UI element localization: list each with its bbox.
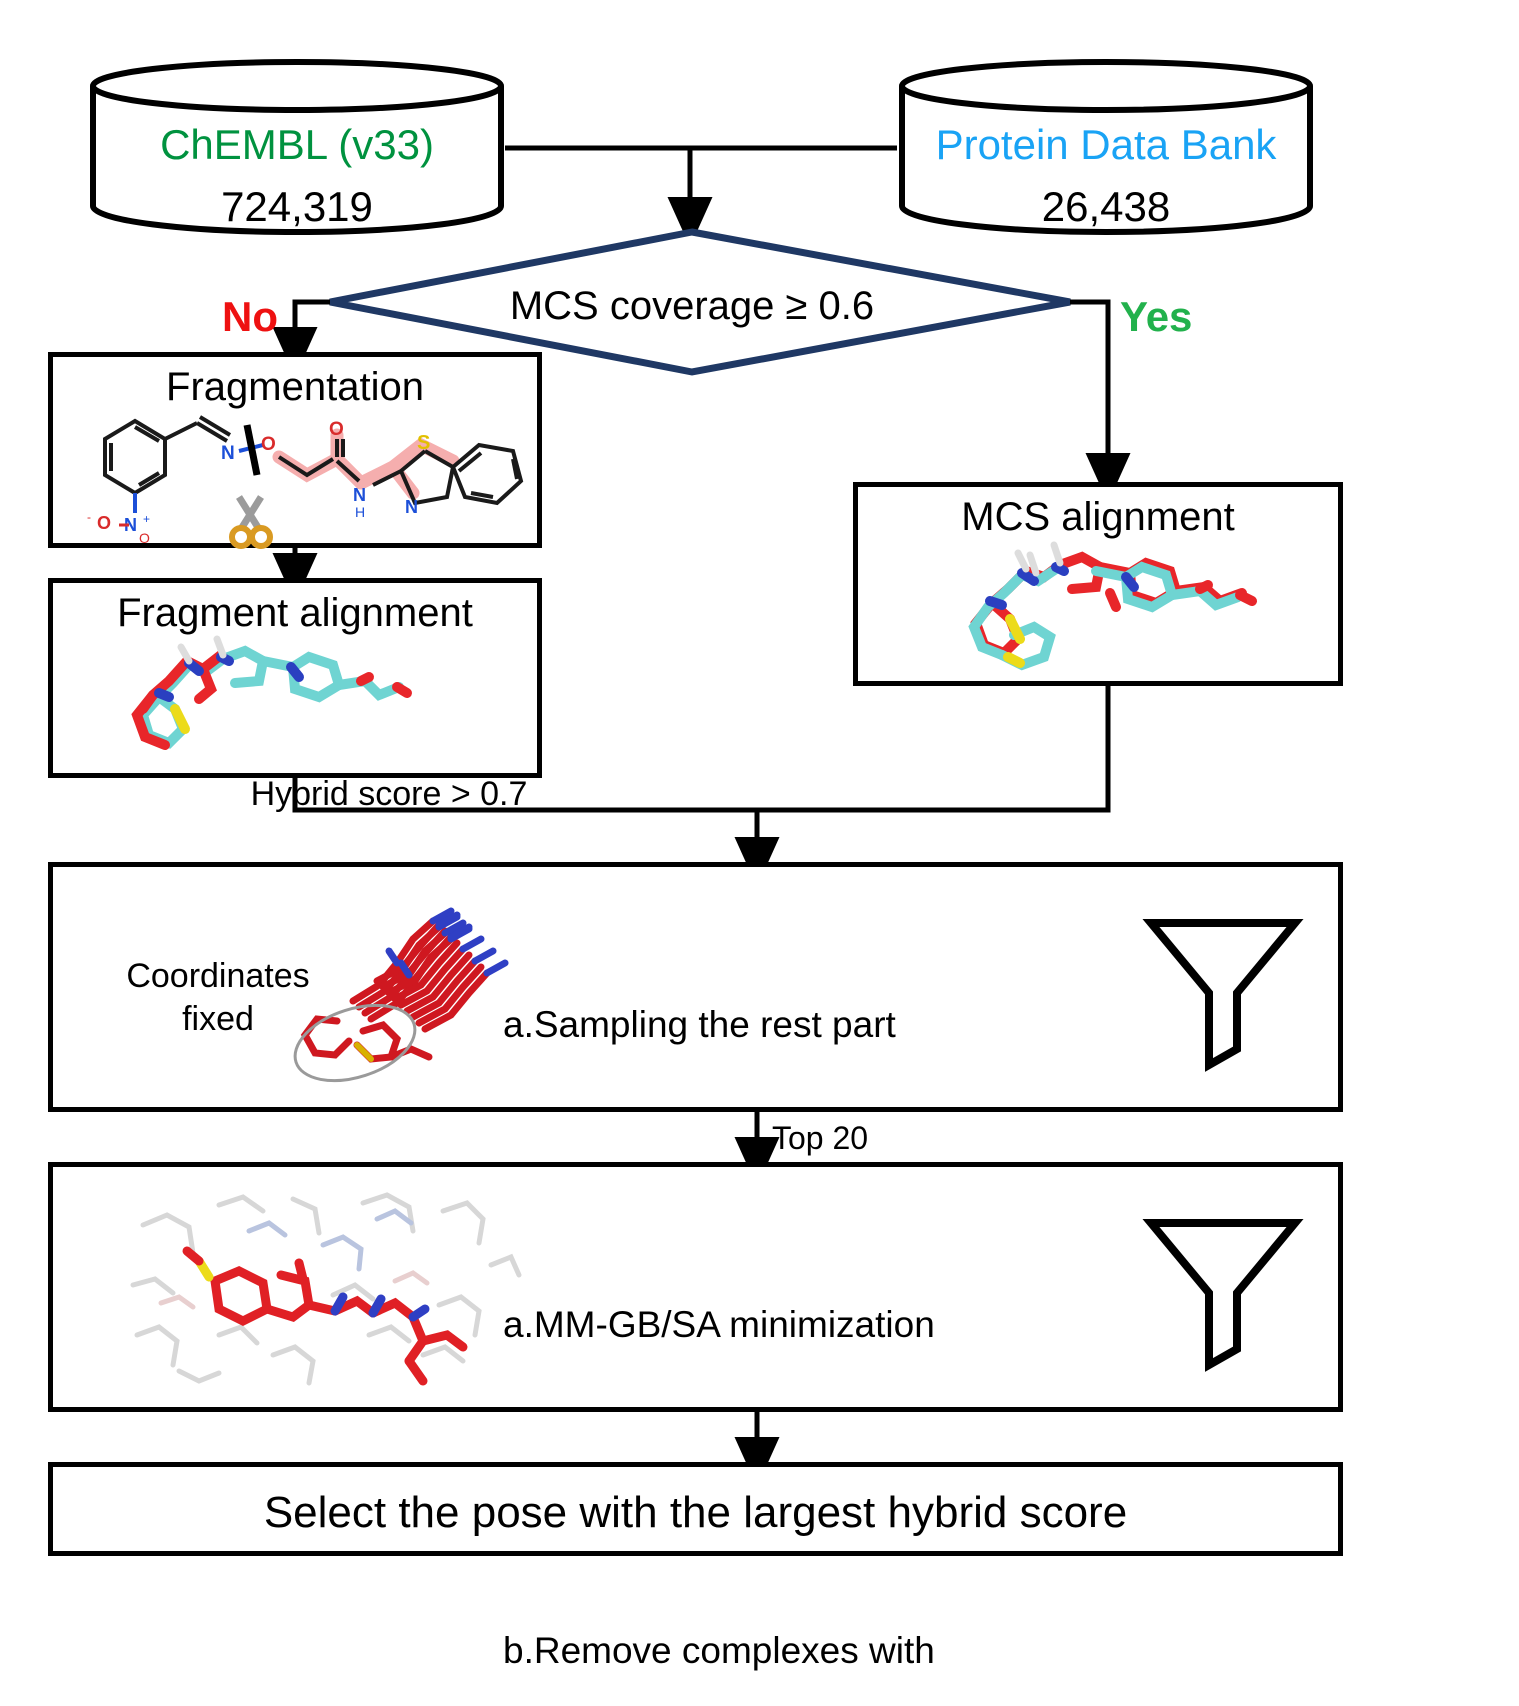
decision-label: MCS coverage ≥ 0.6 <box>442 286 942 326</box>
pdb-count: 26,438 <box>897 186 1315 228</box>
svg-text:+: + <box>143 512 150 526</box>
chembl-count: 724,319 <box>88 186 506 228</box>
top20-edge-label: Top 20 <box>772 1122 868 1154</box>
mcs-alignment-3d-image <box>904 539 1324 685</box>
workflow-diagram: ChEMBL (v33) 724,319 Protein Data Bank 2… <box>0 0 1519 1706</box>
funnel-icon <box>1143 1209 1303 1369</box>
sampling-step-a: a.Sampling the rest part <box>503 998 986 1052</box>
minimization-step-a: a.MM-GB/SA minimization <box>503 1298 1047 1352</box>
minimization-steps-list: a.MM-GB/SA minimization (ligand + residu… <box>503 1189 1047 1706</box>
svg-text:O: O <box>329 419 344 440</box>
pdb-label: Protein Data Bank <box>897 124 1315 166</box>
svg-text:N: N <box>405 497 418 517</box>
final-selection-label: Select the pose with the largest hybrid … <box>53 1491 1338 1535</box>
minimization-stage-box: a.MM-GB/SA minimization (ligand + residu… <box>48 1162 1343 1412</box>
fragmentation-molecule-image: N O N + O - O <box>61 401 537 547</box>
decision-yes-label: Yes <box>1120 296 1192 338</box>
protein-ligand-complex-image <box>123 1185 523 1397</box>
svg-text:N: N <box>221 443 235 464</box>
svg-text:S: S <box>417 432 430 454</box>
svg-text:-: - <box>87 510 91 524</box>
chembl-database-cylinder: ChEMBL (v33) 724,319 <box>88 58 506 234</box>
scissors-icon <box>232 497 270 546</box>
fragmentation-box: Fragmentation N O N + O - <box>48 352 542 548</box>
conformer-ensemble-image <box>293 881 523 1103</box>
fragment-alignment-box: Fragment alignment <box>48 578 542 778</box>
sampling-stage-box: Coordinates fixed <box>48 862 1343 1112</box>
hybrid-score-criterion: Hybrid score > 0.7 <box>239 773 539 816</box>
mcs-alignment-title: MCS alignment <box>858 497 1338 537</box>
final-selection-box: Select the pose with the largest hybrid … <box>48 1462 1343 1556</box>
svg-text:N: N <box>353 485 366 505</box>
svg-text:O: O <box>97 513 111 533</box>
decision-no-label: No <box>222 296 278 338</box>
fragment-alignment-3d-image <box>103 631 423 779</box>
funnel-icon <box>1143 909 1303 1069</box>
mcs-alignment-box: MCS alignment <box>853 482 1343 686</box>
fragment-alignment-title: Fragment alignment <box>53 593 537 633</box>
minimization-step-b: b.Remove complexes with <box>503 1624 1047 1678</box>
svg-text:H: H <box>355 504 365 520</box>
chembl-label: ChEMBL (v33) <box>88 124 506 166</box>
svg-text:O: O <box>261 434 276 455</box>
pdb-database-cylinder: Protein Data Bank 26,438 <box>897 58 1315 234</box>
svg-text:O: O <box>139 530 150 546</box>
